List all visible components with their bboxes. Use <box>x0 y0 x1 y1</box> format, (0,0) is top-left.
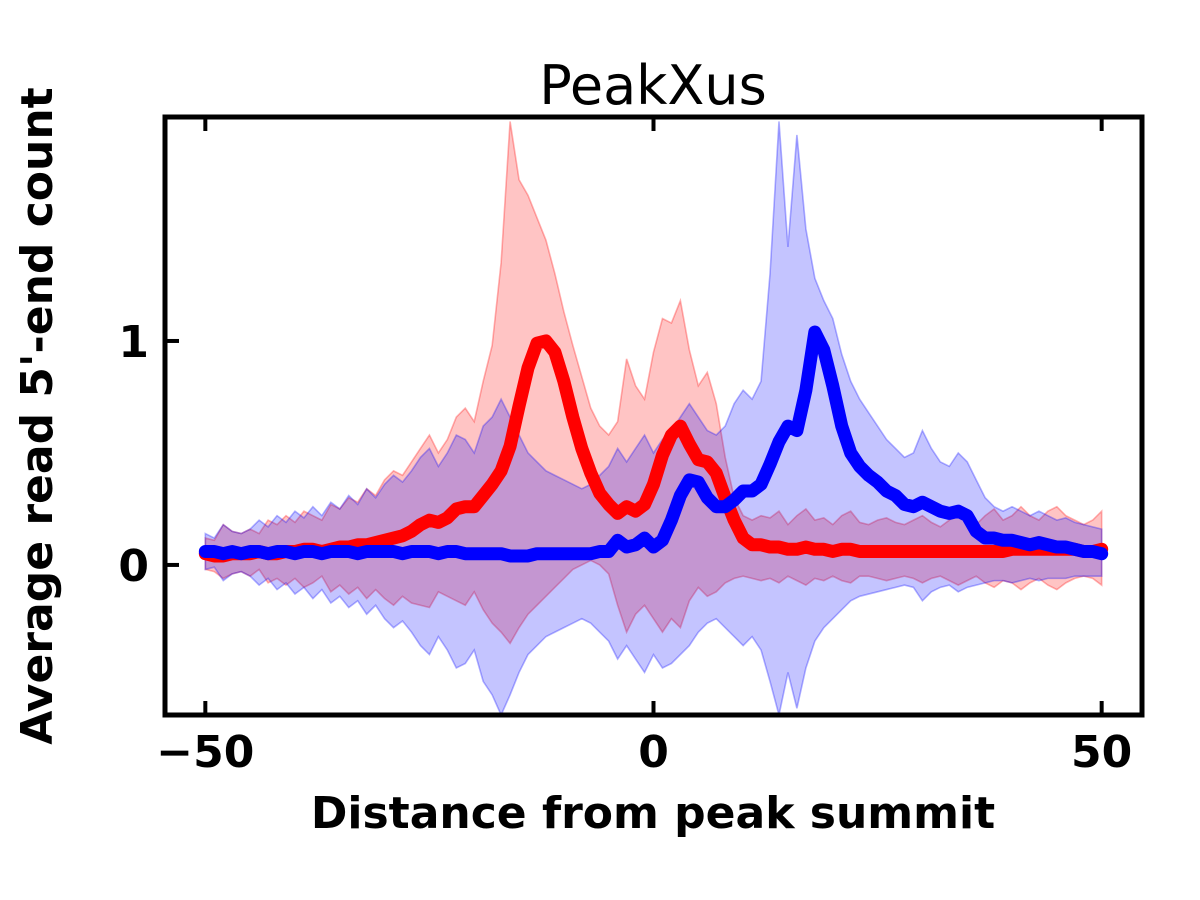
y-tick-label: 1 <box>118 317 149 368</box>
x-tick-label: 0 <box>638 727 669 778</box>
x-axis-title: Distance from peak summit <box>311 788 995 839</box>
figure-canvas: PeakXus −5005001 Distance from peak summ… <box>0 0 1200 900</box>
chart-svg: PeakXus −5005001 Distance from peak summ… <box>0 0 1200 900</box>
x-tick-label: −50 <box>156 727 254 778</box>
y-tick-label: 0 <box>118 541 149 592</box>
y-axis-title: Average read 5'-end count <box>12 87 63 744</box>
chart-title: PeakXus <box>539 54 767 117</box>
x-tick-label: 50 <box>1071 727 1132 778</box>
